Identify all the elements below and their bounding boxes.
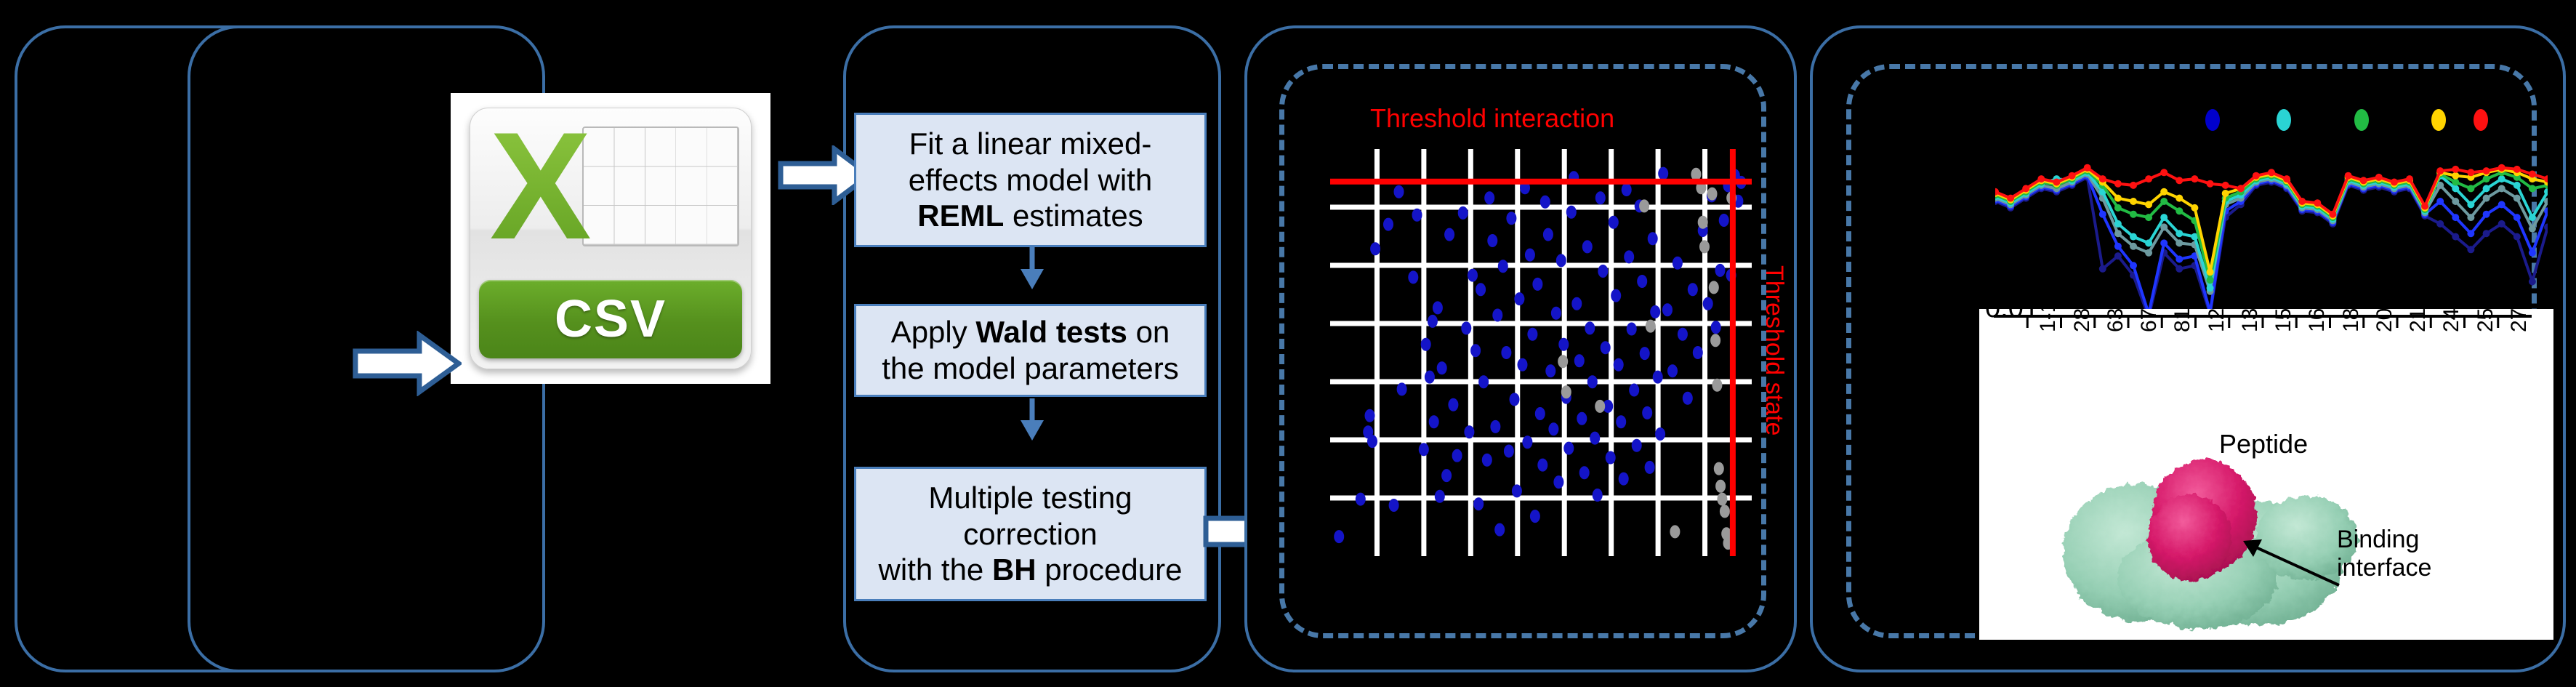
arrow-fit-to-wald	[1010, 247, 1054, 291]
peptide-tick-218-237: 218-237	[2406, 309, 2431, 332]
binding-interface-line1: Binding	[2337, 526, 2431, 554]
peptide-tick-135-144: 135-144	[2238, 309, 2263, 332]
threshold-interaction-label: Threshold interaction	[1370, 103, 1614, 134]
peptide-tick-167-180: 167-180	[2305, 309, 2330, 332]
peptide-tick-277-284: 277-284	[2507, 309, 2532, 332]
wald-test-box[interactable]: Apply Wald tests onthe model parameters	[854, 304, 1207, 397]
wald-test-box-text: Apply Wald tests onthe model parameters	[882, 314, 1179, 386]
legend-dot-blue	[2205, 109, 2220, 131]
csv-band-label: CSV	[479, 280, 742, 358]
fit-model-box[interactable]: Fit a linear mixed-effects model withREM…	[854, 113, 1207, 247]
binding-interface-annotation: Binding interface	[2337, 526, 2431, 582]
structure-figure: 0.01 1-1528-4463-7367-7581-101122-129135…	[1979, 309, 2553, 640]
legend-dot-green	[2354, 109, 2369, 131]
peptide-tick-200-214: 200-214	[2372, 309, 2397, 332]
arrow-input-to-csv	[353, 331, 462, 396]
excel-x-letter: X	[482, 113, 600, 275]
multiple-testing-box-text: Multiple testingcorrectionwith the BH pr…	[879, 480, 1183, 588]
peptide-tick-28-44: 28-44	[2070, 309, 2095, 332]
arrow-wald-to-bh	[1010, 398, 1054, 442]
legend-dot-yellow	[2431, 109, 2446, 131]
peptide-profile-chart	[1995, 145, 2548, 320]
peptide-tick-1-15: 1-15	[2036, 309, 2061, 332]
threshold-state-label: Threshold state	[1760, 265, 1788, 435]
legend-dot-cyan	[2277, 109, 2291, 131]
volcano-plot-area	[1330, 149, 1752, 556]
csv-file-icon: X CSV	[451, 93, 770, 384]
peptide-tick-158-166: 158-166	[2271, 309, 2296, 332]
peptide-tick-241-257: 241-257	[2439, 309, 2464, 332]
csv-card: X CSV	[470, 108, 751, 369]
peptide-tick-258-266: 258-266	[2474, 309, 2498, 332]
multiple-testing-box[interactable]: Multiple testingcorrectionwith the BH pr…	[854, 467, 1207, 601]
peptide-tick-63-73: 63-73	[2104, 309, 2128, 332]
peptide-tick-122-129: 122-129	[2205, 309, 2229, 332]
peptide-tick-67-75: 67-75	[2137, 309, 2162, 332]
binding-interface-line2: interface	[2337, 554, 2431, 582]
fit-model-box-text: Fit a linear mixed-effects model withREM…	[909, 126, 1152, 234]
peptide-tick-184-199: 184-199	[2339, 309, 2364, 332]
legend-dot-red	[2474, 109, 2488, 131]
spreadsheet-grid-icon	[582, 126, 739, 246]
volcano-plot: Threshold interaction Threshold state	[1308, 116, 1752, 567]
peptide-tick-81-101: 81-101	[2170, 309, 2195, 332]
